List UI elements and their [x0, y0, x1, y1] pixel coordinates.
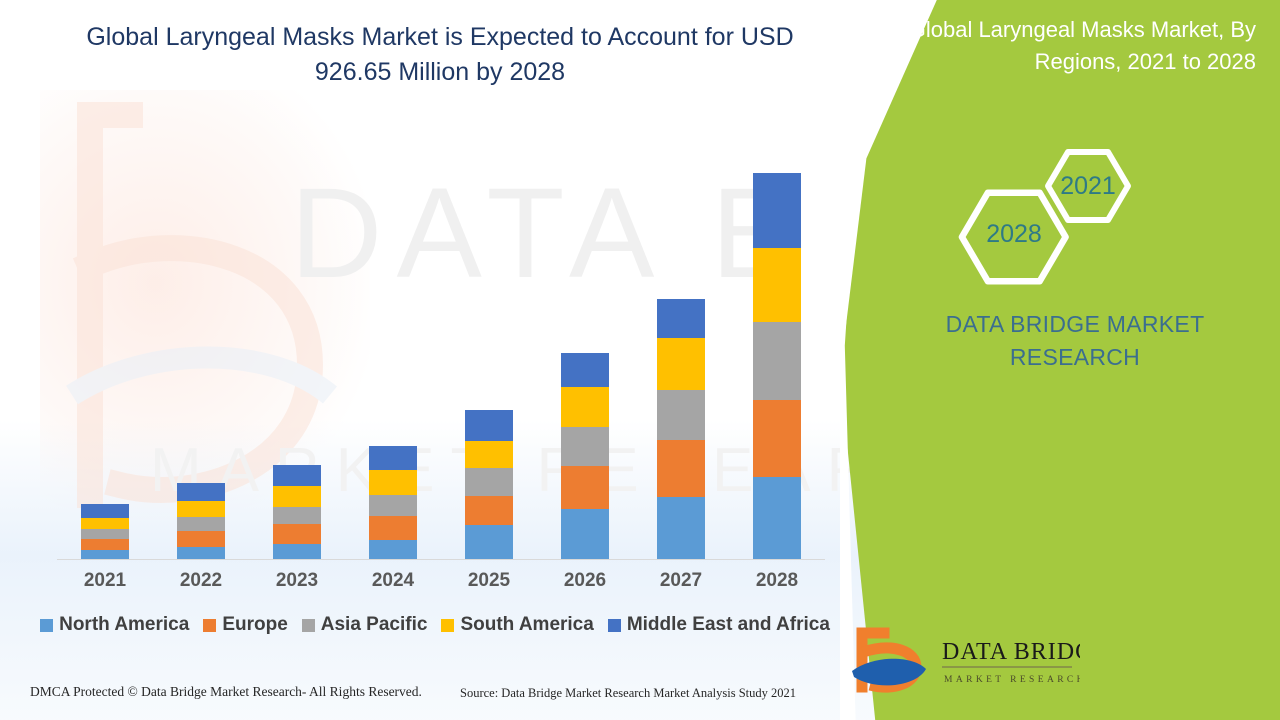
x-axis-labels: 20212022202320242025202620272028: [57, 570, 825, 592]
bar-segment: [273, 544, 321, 559]
panel-title: Global Laryngeal Masks Market, By Region…: [864, 14, 1256, 78]
legend-item[interactable]: Europe: [203, 614, 287, 636]
bar-column-2021: [57, 150, 153, 559]
stacked-bar: [177, 483, 225, 559]
legend-label: Middle East and Africa: [627, 614, 830, 636]
chart-title: Global Laryngeal Masks Market is Expecte…: [60, 20, 820, 89]
x-axis-label-2022: 2022: [153, 570, 249, 592]
bar-segment: [369, 495, 417, 516]
bar-segment: [657, 440, 705, 496]
bar-segment: [81, 518, 129, 529]
legend-label: North America: [59, 614, 189, 636]
bar-segment: [657, 299, 705, 338]
bar-segment: [81, 529, 129, 539]
legend-swatch-icon: [40, 619, 53, 632]
bar-segment: [465, 468, 513, 496]
bar-column-2028: [729, 150, 825, 559]
bar-segment: [369, 470, 417, 495]
hexagon-2021-label: 2021: [1060, 172, 1116, 200]
bar-segment: [561, 466, 609, 509]
chart-plot-area: [57, 150, 825, 560]
hexagon-2028-label: 2028: [986, 220, 1042, 248]
stacked-bar: [753, 173, 801, 559]
bar-segment: [753, 400, 801, 477]
bar-segment: [465, 525, 513, 559]
legend-label: South America: [460, 614, 593, 636]
bar-segment: [177, 501, 225, 518]
bar-segment: [273, 465, 321, 486]
green-side-panel: Global Laryngeal Masks Market, By Region…: [840, 0, 1280, 720]
bar-segment: [273, 507, 321, 524]
bar-segment: [177, 517, 225, 531]
x-axis-label-2023: 2023: [249, 570, 345, 592]
bar-column-2022: [153, 150, 249, 559]
bar-segment: [561, 427, 609, 466]
bar-segment: [465, 441, 513, 468]
x-axis-label-2024: 2024: [345, 570, 441, 592]
stacked-bar: [561, 353, 609, 559]
x-axis-label-2027: 2027: [633, 570, 729, 592]
infographic-page: DATA B MARKET RESEARCH Global Laryngeal …: [0, 0, 1280, 720]
legend-label: Europe: [222, 614, 287, 636]
legend-swatch-icon: [441, 619, 454, 632]
bar-segment: [753, 173, 801, 248]
bar-column-2025: [441, 150, 537, 559]
bar-segment: [369, 446, 417, 470]
bar-segment: [81, 504, 129, 519]
footer-source: Source: Data Bridge Market Research Mark…: [460, 686, 796, 701]
bar-segment: [369, 540, 417, 559]
x-axis-line: [57, 559, 825, 560]
bar-segment: [465, 410, 513, 441]
bar-column-2026: [537, 150, 633, 559]
bar-segment: [753, 322, 801, 400]
legend-item[interactable]: Asia Pacific: [302, 614, 428, 636]
bar-column-2023: [249, 150, 345, 559]
bar-segment: [81, 539, 129, 550]
logo-tagline-text: MARKET RESEARCH: [944, 675, 1080, 685]
data-bridge-logo: DATA BRIDGE MARKET RESEARCH: [850, 625, 1080, 700]
bar-group: [57, 150, 825, 559]
bar-segment: [657, 390, 705, 440]
x-axis-label-2021: 2021: [57, 570, 153, 592]
bar-segment: [465, 496, 513, 525]
bar-segment: [177, 483, 225, 501]
bar-segment: [561, 353, 609, 387]
legend-swatch-icon: [608, 619, 621, 632]
bar-segment: [753, 477, 801, 559]
bar-segment: [273, 524, 321, 543]
logo-name-text: DATA BRIDGE: [942, 639, 1080, 665]
bar-column-2027: [633, 150, 729, 559]
x-axis-label-2026: 2026: [537, 570, 633, 592]
legend-item[interactable]: North America: [40, 614, 189, 636]
bar-segment: [657, 338, 705, 390]
x-axis-label-2025: 2025: [441, 570, 537, 592]
legend-label: Asia Pacific: [321, 614, 428, 636]
stacked-bar: [369, 446, 417, 559]
bar-segment: [753, 248, 801, 322]
stacked-bar: [657, 299, 705, 559]
legend-swatch-icon: [302, 619, 315, 632]
bar-segment: [561, 387, 609, 427]
x-axis-label-2028: 2028: [729, 570, 825, 592]
brand-name-text: DATA BRIDGE MARKET RESEARCH: [900, 308, 1250, 375]
stacked-bar: [465, 410, 513, 559]
bar-column-2024: [345, 150, 441, 559]
legend-item[interactable]: South America: [441, 614, 593, 636]
footer-copyright: DMCA Protected © Data Bridge Market Rese…: [30, 684, 422, 700]
bar-segment: [81, 550, 129, 559]
bar-segment: [657, 497, 705, 559]
bar-segment: [177, 531, 225, 546]
legend-swatch-icon: [203, 619, 216, 632]
legend-item[interactable]: Middle East and Africa: [608, 614, 830, 636]
bar-segment: [273, 486, 321, 507]
hexagon-badges: 2021 2028: [936, 130, 1156, 290]
stacked-bar: [81, 504, 129, 560]
stacked-bar: [273, 465, 321, 559]
bar-segment: [369, 516, 417, 540]
bar-segment: [177, 547, 225, 559]
chart-legend: North AmericaEuropeAsia PacificSouth Ame…: [40, 614, 830, 636]
bar-segment: [561, 509, 609, 559]
